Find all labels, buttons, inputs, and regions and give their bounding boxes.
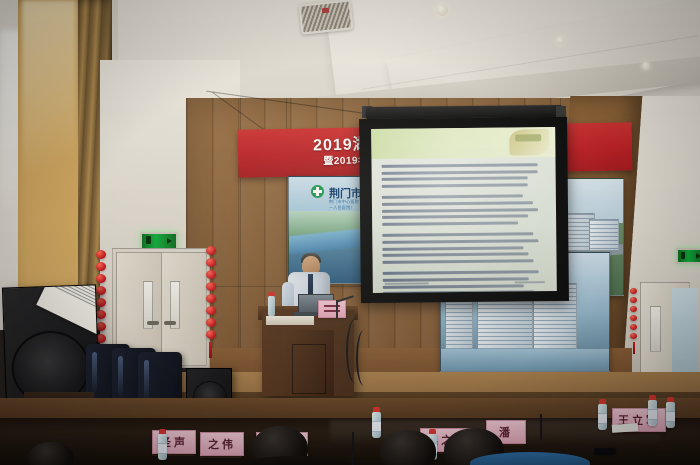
posted-notice <box>36 284 100 334</box>
podium-panel-inset <box>292 344 326 394</box>
slide-text-line <box>382 183 528 188</box>
slide-text-line <box>382 233 533 238</box>
door-handle-icon[interactable] <box>147 321 159 325</box>
water-bottle[interactable] <box>648 400 657 426</box>
slide-text-line <box>382 208 538 213</box>
vent-indicator <box>322 8 329 14</box>
water-bottle[interactable] <box>598 404 607 430</box>
slide-text-line <box>383 277 529 282</box>
audience-head <box>380 430 436 465</box>
slide-text-line <box>382 163 538 168</box>
slide-text-line <box>382 195 523 199</box>
slide-header-label <box>515 134 541 141</box>
podium-paper <box>266 316 314 325</box>
slide-text-line <box>382 201 533 206</box>
projection-screen <box>371 127 557 293</box>
downlight-icon <box>556 36 565 45</box>
slide-text-line <box>382 252 528 257</box>
slide-text-line <box>382 221 518 225</box>
name-card: 之伟 <box>200 432 244 456</box>
curtain-sunlight <box>22 0 76 230</box>
water-bottle[interactable] <box>372 412 381 438</box>
downlight-icon <box>642 62 650 70</box>
photo-scene: 2019湖北省烟草巡讲（荆门站） 暨2019年省级继续教育《康复中的应用》培训班… <box>0 0 700 465</box>
slide-text-block <box>382 163 547 267</box>
door-leaf-right[interactable] <box>161 252 207 366</box>
water-bottle[interactable] <box>666 402 675 428</box>
power-cable <box>356 330 372 386</box>
slide-text-line <box>383 259 534 264</box>
smartphone[interactable] <box>594 448 616 455</box>
downlight-icon <box>436 4 448 16</box>
audience-head <box>28 442 74 465</box>
door-handle-icon[interactable] <box>164 321 176 325</box>
slide-text-line <box>383 271 539 276</box>
water-bottle[interactable] <box>158 434 167 460</box>
slide-text-line <box>382 214 528 219</box>
exit-sign-icon <box>676 248 700 264</box>
red-lantern-string <box>206 246 216 358</box>
slide-text-line <box>382 239 538 244</box>
slide-text-line <box>382 170 538 175</box>
microphone-stand <box>352 432 354 465</box>
board-building <box>589 219 619 251</box>
slide-header-band <box>371 127 555 159</box>
water-bottle[interactable] <box>268 296 275 316</box>
cross-logo-icon <box>311 185 324 198</box>
slide-header-graphic <box>509 129 549 155</box>
slide-text-line <box>382 246 523 250</box>
slide-footer-right <box>515 281 545 283</box>
slide-text-line <box>382 177 528 182</box>
door-vision-panel <box>650 306 661 352</box>
red-lantern-string <box>630 288 637 354</box>
microphone-stand <box>540 414 542 440</box>
podium-name-card <box>318 300 346 318</box>
board-plaza <box>441 349 609 371</box>
air-vent-icon <box>299 0 354 35</box>
